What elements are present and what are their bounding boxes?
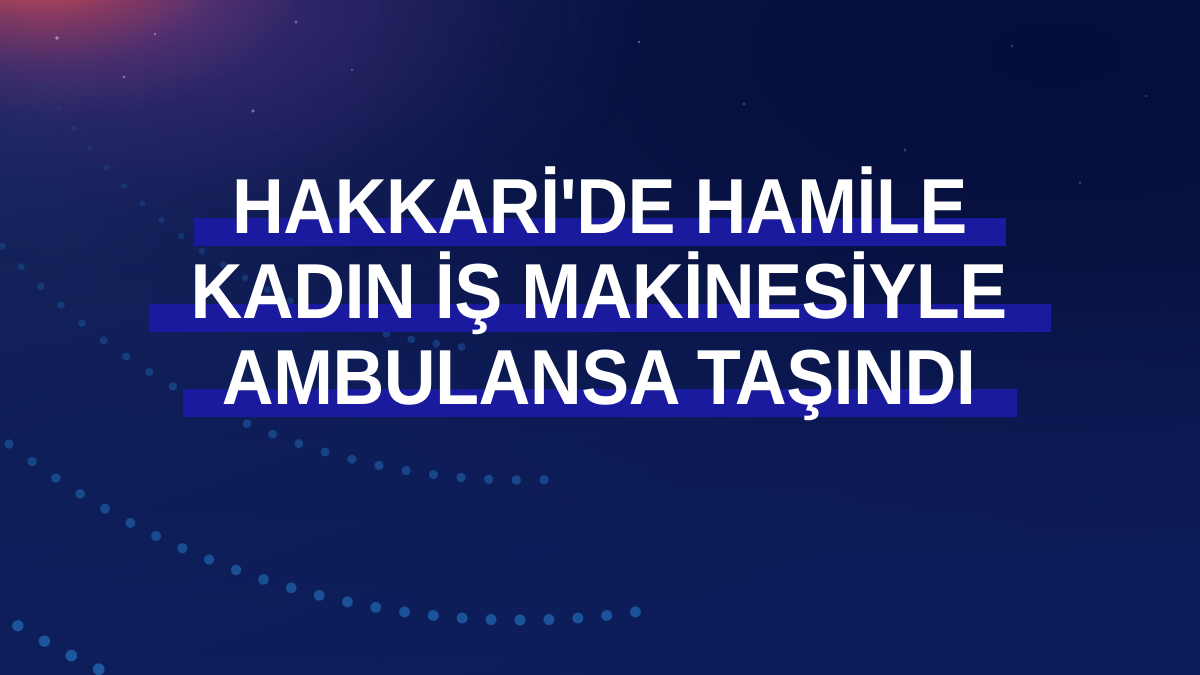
news-thumbnail-canvas: HAKKARİ'DE HAMİLE KADIN İŞ MAKİNESİYLE A… (0, 0, 1200, 675)
headline-line-2-text: KADIN İŞ MAKİNESİYLE (191, 253, 1007, 329)
headline-line-1-text: HAKKARİ'DE HAMİLE (232, 168, 967, 244)
headline-line-3: AMBULANSA TAŞINDI (183, 339, 1016, 415)
headline-line-2: KADIN İŞ MAKİNESİYLE (149, 253, 1050, 329)
headline-line-3-text: AMBULANSA TAŞINDI (222, 339, 976, 415)
headline-block: HAKKARİ'DE HAMİLE KADIN İŞ MAKİNESİYLE A… (0, 168, 1200, 415)
headline-line-1: HAKKARİ'DE HAMİLE (194, 168, 1007, 244)
